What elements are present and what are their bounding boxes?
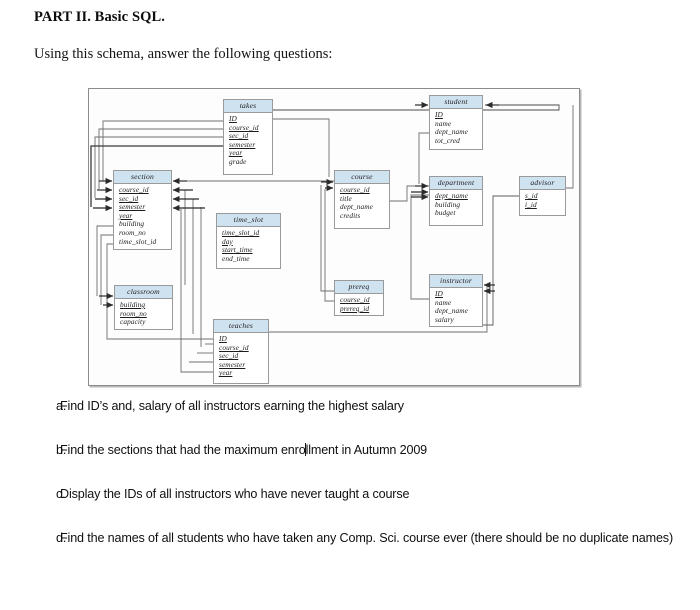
page-title: PART II. Basic SQL. — [34, 9, 165, 26]
entity-table-title: time_slot — [217, 214, 280, 227]
entity-table-title: classroom — [115, 286, 172, 299]
entity-table-title: teaches — [214, 320, 268, 333]
entity-table-title: takes — [224, 100, 272, 113]
entity-field-list: dept_namebuildingbudget — [430, 190, 482, 220]
entity-table-section: sectioncourse_idsec_idsemesteryearbuildi… — [113, 170, 172, 250]
entity-table-department: departmentdept_namebuildingbudget — [429, 176, 483, 226]
question-text[interactable]: Find ID’s and, salary of all instructors… — [60, 398, 674, 415]
entity-field: credits — [340, 212, 389, 221]
entity-key-field: i_id — [525, 201, 565, 210]
question-item: d.Find the names of all students who hav… — [34, 530, 674, 547]
entity-table-classroom: classroombuildingroom_nocapacity — [114, 285, 173, 330]
entity-table-instructor: instructorIDnamedept_namesalary — [429, 274, 483, 327]
question-text-before-caret: Find the sections that had the maximum e… — [60, 443, 306, 457]
entity-field: grade — [229, 158, 272, 167]
entity-table-prereq: prereqcourse_idprereq_id — [334, 280, 384, 316]
intro-text: Using this schema, answer the following … — [34, 46, 332, 63]
entity-field-list: IDcourse_idsec_idsemesteryeargrade — [224, 113, 272, 169]
entity-field: end_time — [222, 255, 280, 264]
entity-table-advisor: advisors_idi_id — [519, 176, 566, 216]
entity-field-list: IDcourse_idsec_idsemesteryear — [214, 333, 268, 380]
question-marker: b. — [34, 442, 60, 459]
schema-diagram-figure: takesIDcourse_idsec_idsemesteryeargrades… — [88, 88, 580, 386]
question-list: a.Find ID’s and, salary of all instructo… — [34, 398, 674, 574]
entity-table-title: student — [430, 96, 482, 109]
entity-field-list: course_idtitledept_namecredits — [335, 184, 389, 222]
entity-table-title: instructor — [430, 275, 482, 288]
entity-field: budget — [435, 209, 482, 218]
question-item: b.Find the sections that had the maximum… — [34, 442, 674, 459]
question-marker: d. — [34, 530, 60, 547]
entity-field: capacity — [120, 318, 172, 327]
entity-field: time_slot_id — [119, 238, 171, 247]
question-text-after-caret: llment in Autumn 2009 — [306, 443, 427, 457]
entity-key-field: year — [219, 369, 268, 378]
entity-field-list: course_idprereq_id — [335, 294, 383, 315]
entity-field-list: course_idsec_idsemesteryearbuildingroom_… — [114, 184, 171, 248]
entity-key-field: prereq_id — [340, 305, 383, 314]
entity-table-time_slot: time_slottime_slot_iddaystart_timeend_ti… — [216, 213, 281, 269]
question-item: c.Display the IDs of all instructors who… — [34, 486, 674, 503]
entity-table-title: department — [430, 177, 482, 190]
entity-table-title: prereq — [335, 281, 383, 294]
entity-table-title: advisor — [520, 177, 565, 190]
question-text[interactable]: Find the names of all students who have … — [60, 530, 674, 547]
entity-table-teaches: teachesIDcourse_idsec_idsemesteryear — [213, 319, 269, 384]
question-text[interactable]: Display the IDs of all instructors who h… — [60, 486, 674, 503]
entity-table-course: coursecourse_idtitledept_namecredits — [334, 170, 390, 229]
entity-field-list: s_idi_id — [520, 190, 565, 211]
entity-table-student: studentIDnamedept_nametot_cred — [429, 95, 483, 150]
entity-table-title: section — [114, 171, 171, 184]
question-text[interactable]: Find the sections that had the maximum e… — [60, 442, 674, 459]
entity-field: salary — [435, 316, 482, 325]
entity-field: tot_cred — [435, 137, 482, 146]
entity-field-list: time_slot_iddaystart_timeend_time — [217, 227, 280, 265]
question-item: a.Find ID’s and, salary of all instructo… — [34, 398, 674, 415]
question-marker: c. — [34, 486, 60, 503]
entity-table-takes: takesIDcourse_idsec_idsemesteryeargrade — [223, 99, 273, 175]
entity-table-title: course — [335, 171, 389, 184]
entity-field-list: IDnamedept_nametot_cred — [430, 109, 482, 147]
entity-field-list: IDnamedept_namesalary — [430, 288, 482, 326]
question-marker: a. — [34, 398, 60, 415]
entity-field-list: buildingroom_nocapacity — [115, 299, 172, 329]
